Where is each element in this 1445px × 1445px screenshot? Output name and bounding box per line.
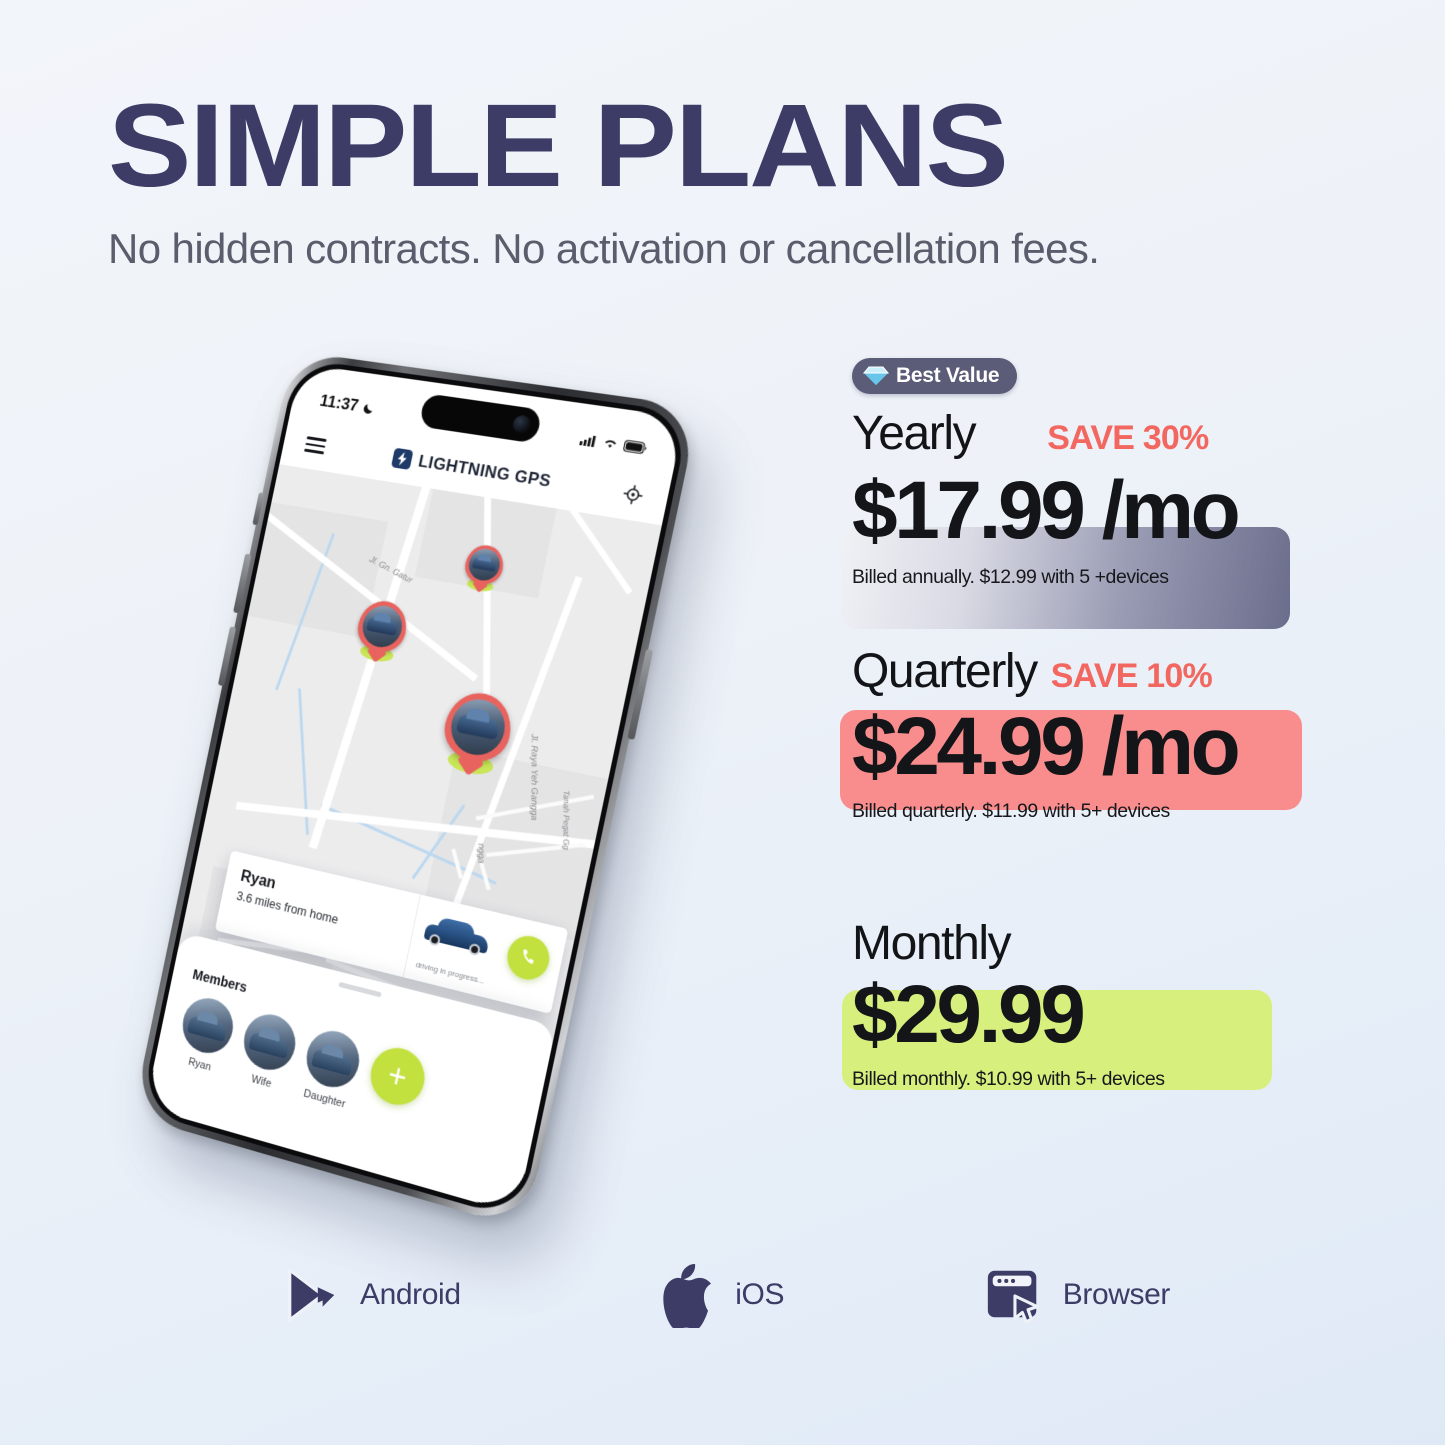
plan-save-badge: SAVE 30% [1047,421,1208,455]
cellular-signal-icon [579,433,598,447]
avatar [239,1008,300,1075]
sheet-drag-handle[interactable] [338,982,381,997]
plan-save-badge: SAVE 10% [1051,659,1212,693]
google-play-icon [280,1264,342,1326]
page-subtitle: No hidden contracts. No activation or ca… [108,225,1208,273]
vehicle-image [422,913,491,958]
member-label: Daughter [298,1086,352,1112]
vehicle-pin-1[interactable] [460,542,506,594]
compass-locate-icon[interactable] [621,483,645,506]
call-button[interactable] [503,932,553,984]
plan-price: $17.99 /mo [852,470,1322,552]
wifi-icon [602,436,619,450]
members-sheet[interactable]: Members Ryan Wife [145,932,556,1214]
status-bar-time: 11:37 [318,391,360,416]
member-item[interactable]: Ryan [174,992,238,1077]
apple-icon [659,1262,717,1328]
app-brand-name: LIGHTNING GPS [417,452,553,492]
avatar [302,1025,365,1093]
best-value-badge-label: Best Value [896,364,999,388]
moon-icon [361,401,375,415]
map-street-label: Tanah Pegat Gg [561,790,570,850]
member-item[interactable]: Wife [235,1008,300,1094]
plan-name: Monthly [852,920,1010,968]
plan-name: Yearly [852,410,975,458]
plan-note: Billed annually. $12.99 with 5 +devices [852,566,1322,589]
browser-window-icon [983,1264,1045,1326]
front-camera-icon [511,414,532,434]
phone-call-icon [516,945,540,970]
platform-label: Browser [1063,1278,1170,1312]
platform-list: Android iOS Browser [280,1262,1170,1328]
avatar [178,992,238,1058]
phone-frame: 11:37 [132,351,699,1230]
pricing-list: Best Value Yearly SAVE 30% $17.99 /mo Bi… [852,358,1322,1160]
member-label: Ryan [174,1052,225,1077]
hamburger-menu-icon[interactable] [303,432,327,458]
vehicle-status: driving in progress... [415,960,485,986]
platform-label: iOS [735,1278,784,1312]
best-value-badge: Best Value [852,358,1017,394]
phone-mockup: 11:37 [150,360,750,1210]
driver-vehicle: driving in progress... [403,895,568,1014]
plan-note: Billed quarterly. $11.99 with 5+ devices [852,800,1322,823]
platform-ios[interactable]: iOS [659,1262,784,1328]
vehicle-pin-3[interactable] [436,688,517,780]
map-street-label: Jl. Raya Yeh Gangga [529,734,539,821]
battery-icon [623,439,648,454]
plan-price: $24.99 /mo [852,706,1322,788]
page-title: SIMPLE PLANS [108,92,1274,201]
lightning-bolt-logo [390,447,415,471]
header: SIMPLE PLANS No hidden contracts. No act… [108,92,1208,273]
platform-browser[interactable]: Browser [983,1264,1170,1326]
map-street-label: ngga [476,843,486,863]
plan-name: Quarterly [852,648,1037,696]
platform-android[interactable]: Android [280,1264,461,1326]
plan-note: Billed monthly. $10.99 with 5+ devices [852,1068,1322,1091]
plan-monthly[interactable]: Monthly $29.99 Billed monthly. $10.99 wi… [852,920,1322,1160]
plan-quarterly[interactable]: Quarterly SAVE 10% $24.99 /mo Billed qua… [852,648,1322,920]
platform-label: Android [360,1278,461,1312]
plan-price: $29.99 [852,974,1322,1056]
phone-screen: 11:37 [145,364,685,1214]
member-label: Wife [235,1069,287,1094]
app-brand: LIGHTNING GPS [390,447,553,493]
member-item[interactable]: Daughter [298,1025,364,1112]
diamond-gem-icon [863,365,889,387]
add-member-button[interactable]: + [366,1042,430,1111]
phone-power-button [627,649,653,740]
plan-yearly[interactable]: Best Value Yearly SAVE 30% $17.99 /mo Bi… [852,358,1322,648]
